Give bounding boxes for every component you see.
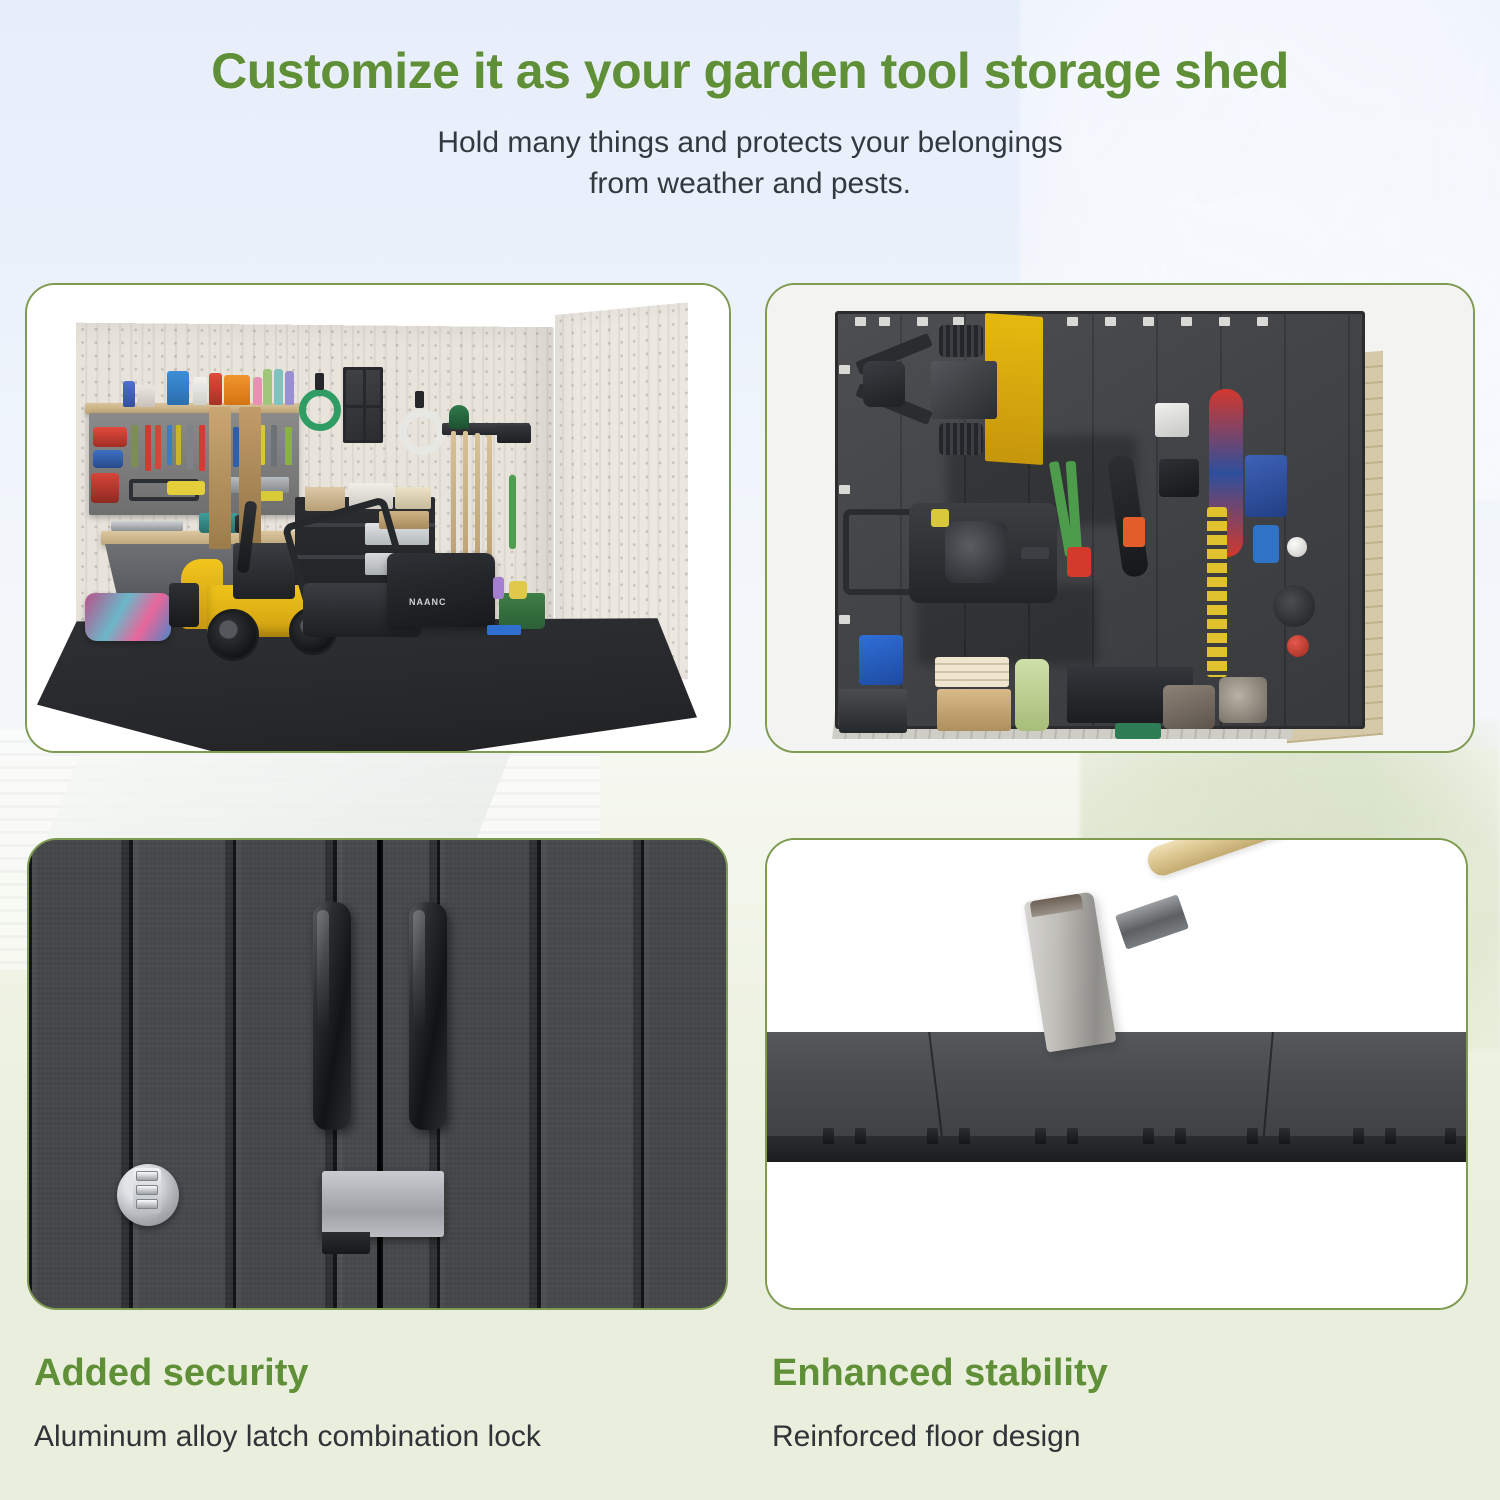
leaf-blower-label xyxy=(1123,517,1145,547)
tool-handle-1 xyxy=(451,431,456,573)
feature-title: Added security xyxy=(34,1352,734,1396)
page-subtitle: Hold many things and protects your belon… xyxy=(0,122,1500,205)
ladder-yellow xyxy=(1207,507,1227,677)
bottle-blue xyxy=(167,371,189,405)
feature-caption-security: Added security Aluminum alloy latch comb… xyxy=(34,1352,734,1455)
wall-hook-1 xyxy=(315,373,324,390)
shed-window xyxy=(343,367,383,443)
bottle-pink xyxy=(253,377,262,405)
clamp-yellow xyxy=(167,481,205,495)
header: Customize it as your garden tool storage… xyxy=(0,0,1500,205)
dial-1[interactable] xyxy=(136,1171,158,1181)
subtitle-line-1: Hold many things and protects your belon… xyxy=(0,122,1500,163)
feature-description: Aluminum alloy latch combination lock xyxy=(34,1418,734,1456)
dial-2[interactable] xyxy=(136,1185,158,1195)
hammer-wooden-handle xyxy=(1144,838,1468,879)
tool-pouch xyxy=(169,583,199,627)
floor-support-rib xyxy=(1143,1128,1154,1144)
wall-hook-2 xyxy=(415,391,424,408)
feature-description: Reinforced floor design xyxy=(772,1418,1472,1456)
scene-shed-interior: NAANC xyxy=(27,285,729,751)
floor-support-rib xyxy=(855,1128,866,1144)
scene-shed-topdown xyxy=(767,285,1473,751)
latch-assembly[interactable] xyxy=(29,1170,726,1290)
boots-pair xyxy=(1163,685,1215,729)
paint-can xyxy=(137,385,155,407)
screwdriver-1 xyxy=(167,425,172,465)
lawn-mower-engine-topdown xyxy=(945,521,1007,583)
panel-door-latch-closeup xyxy=(27,838,728,1310)
wall-clip xyxy=(839,365,850,374)
saw-green xyxy=(285,427,292,465)
door-handle-right[interactable] xyxy=(409,902,447,1130)
feature-title: Enhanced stability xyxy=(772,1352,1472,1396)
hammer-steel-head xyxy=(1024,891,1117,1052)
scene-shed-door xyxy=(29,840,726,1308)
paint-tray-blue xyxy=(859,635,903,685)
bucket-white xyxy=(1155,403,1189,437)
wood-crate xyxy=(937,689,1011,731)
watering-tray-blue xyxy=(487,625,521,635)
hose-green xyxy=(299,389,341,431)
spray-bottle xyxy=(123,381,135,407)
hammer-icon xyxy=(1007,858,1467,1128)
duffel-bag xyxy=(85,593,171,641)
wall-clip xyxy=(1181,317,1192,326)
wall-clip xyxy=(1067,317,1078,326)
wall-clip xyxy=(839,615,850,624)
page-title: Customize it as your garden tool storage… xyxy=(0,44,1500,98)
lawn-mower-topdown xyxy=(839,499,1061,609)
ball-red xyxy=(1287,635,1309,657)
lawn-mower-brand-label xyxy=(1021,547,1049,559)
snow-blower-tire-bottom xyxy=(939,423,983,455)
snow-blower-engine-topdown xyxy=(931,361,997,419)
pliers-red-1 xyxy=(145,425,151,471)
panel-shed-top-down-layout xyxy=(765,283,1475,753)
floor-support-rib xyxy=(1035,1128,1046,1144)
ball-white xyxy=(1287,537,1307,557)
floor-support-rib xyxy=(1279,1128,1290,1144)
latch-hasp-tab xyxy=(322,1232,370,1254)
wall-clip xyxy=(1105,317,1116,326)
book-stack xyxy=(935,657,1009,687)
cooler-blue xyxy=(1245,455,1287,517)
watering-can-green xyxy=(1115,723,1161,739)
panel-reinforced-floor-closeup xyxy=(765,838,1468,1310)
wall-clip xyxy=(855,317,866,326)
wall-clip xyxy=(1219,317,1230,326)
bottle-purple xyxy=(285,371,294,405)
cutting-board-green xyxy=(1015,659,1049,731)
lawn-mower-grip xyxy=(931,509,949,527)
small-tool-rack xyxy=(839,689,907,733)
storage-box-paper xyxy=(395,487,431,509)
pliers-green xyxy=(131,425,138,467)
floor-support-rib xyxy=(1175,1128,1186,1144)
door-handle-left[interactable] xyxy=(313,902,351,1130)
tool-handle-4 xyxy=(487,435,492,573)
power-drill-red2 xyxy=(91,473,119,503)
subtitle-line-2: from weather and pests. xyxy=(0,163,1500,204)
scene-floor-strength xyxy=(767,840,1466,1308)
wrench-1 xyxy=(187,425,193,469)
bag-logo: NAANC xyxy=(409,597,447,607)
equipment-cover-bag: NAANC xyxy=(387,553,495,627)
pliers-red-2 xyxy=(155,425,161,469)
bottle-white xyxy=(193,377,207,405)
panel-shed-interior-perspective: NAANC xyxy=(25,283,731,753)
floor-support-rib xyxy=(1067,1128,1078,1144)
shovel-head xyxy=(449,405,469,429)
hose-white xyxy=(399,409,445,455)
tile-cutter xyxy=(111,521,183,531)
snow-blower-panel xyxy=(863,361,905,407)
basketball-hoop xyxy=(1159,459,1199,497)
hammer-ferrule xyxy=(1115,894,1189,950)
bottle-teal xyxy=(274,369,283,405)
floor-support-rib xyxy=(1353,1128,1364,1144)
rake-head xyxy=(497,425,531,443)
floor-support-rib xyxy=(1445,1128,1456,1144)
spray-bottle-purple xyxy=(493,577,504,599)
wall-clip xyxy=(1143,317,1154,326)
aluminum-latch-plate xyxy=(322,1171,444,1237)
pliers-red-3 xyxy=(199,425,205,471)
bucket-metal xyxy=(1219,677,1267,723)
wrench-2 xyxy=(271,425,277,467)
bottle-green xyxy=(263,369,272,405)
gloves-yellow xyxy=(509,581,527,599)
bottle-red xyxy=(209,373,222,405)
power-drill-blue xyxy=(93,450,123,468)
dial-3[interactable] xyxy=(136,1199,158,1209)
floor-support-rib xyxy=(823,1128,834,1144)
floor-support-rib xyxy=(1247,1128,1258,1144)
pruner-green xyxy=(509,475,516,549)
floor-support-rib xyxy=(1385,1128,1396,1144)
pan-black xyxy=(1273,585,1315,627)
wall-clip xyxy=(1257,317,1268,326)
box-orange xyxy=(224,375,250,405)
snow-blower-tire-top xyxy=(939,325,983,357)
combination-dials xyxy=(133,1168,161,1214)
floor-support-rib xyxy=(927,1128,938,1144)
wall-clip xyxy=(879,317,890,326)
jug-blue xyxy=(1253,525,1279,563)
snow-blower-topdown xyxy=(917,325,1067,455)
feature-caption-stability: Enhanced stability Reinforced floor desi… xyxy=(772,1352,1472,1455)
snow-blower-wheel-left xyxy=(207,609,259,661)
loppers-grip-red xyxy=(1067,547,1091,577)
screwdriver-2 xyxy=(176,425,181,465)
power-drill-red xyxy=(93,427,127,447)
wall-clip xyxy=(839,485,850,494)
floor-support-rib xyxy=(959,1128,970,1144)
